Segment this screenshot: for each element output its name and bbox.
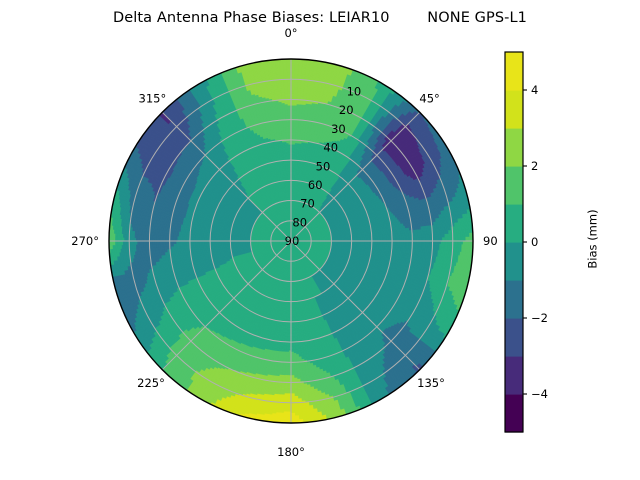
- colorbar-tick-label-4: −4: [531, 387, 548, 401]
- colorbar-band-8: [505, 90, 523, 129]
- colorbar-band-9: [505, 52, 523, 91]
- polar-contour-plot: 0°45°90135°180°225°270°315° 102030405060…: [0, 0, 640, 480]
- colorbar-band-3: [505, 280, 523, 319]
- colorbar-band-6: [505, 166, 523, 205]
- radial-tick-90: 90: [285, 234, 300, 248]
- colorbar-tick-label-0: 4: [531, 83, 538, 97]
- azimuth-tick-135: 135°: [417, 376, 445, 390]
- matplotlib-figure: Delta Antenna Phase Biases: LEIAR10 NONE…: [0, 0, 640, 480]
- azimuth-tick-225: 225°: [137, 376, 165, 390]
- colorbar-tick-label-3: −2: [531, 311, 548, 325]
- figure-title: Delta Antenna Phase Biases: LEIAR10 NONE…: [0, 10, 640, 26]
- radial-tick-30: 30: [331, 122, 346, 136]
- radial-tick-10: 10: [347, 85, 362, 99]
- azimuth-tick-180: 180°: [277, 445, 305, 459]
- radial-tick-70: 70: [300, 197, 315, 211]
- azimuth-tick-0: 0°: [284, 26, 297, 40]
- colorbar: 420−2−4: [505, 52, 548, 433]
- colorbar-axis-label: Bias (mm): [586, 209, 600, 268]
- colorbar-band-2: [505, 318, 523, 357]
- colorbar-band-7: [505, 128, 523, 167]
- azimuth-tick-315: 315°: [139, 91, 167, 105]
- colorbar-band-5: [505, 204, 523, 243]
- radial-tick-40: 40: [323, 141, 338, 155]
- azimuth-tick-90: 90: [483, 234, 498, 248]
- radial-tick-60: 60: [308, 178, 323, 192]
- radial-tick-50: 50: [316, 159, 331, 173]
- azimuth-tick-270: 270°: [71, 234, 99, 248]
- colorbar-tick-label-2: 0: [531, 235, 538, 249]
- radial-tick-80: 80: [292, 215, 307, 229]
- colorbar-band-0: [505, 394, 523, 433]
- radial-tick-20: 20: [339, 103, 354, 117]
- colorbar-tick-label-1: 2: [531, 159, 538, 173]
- colorbar-band-4: [505, 242, 523, 281]
- azimuth-tick-45: 45°: [419, 91, 439, 105]
- colorbar-band-1: [505, 356, 523, 395]
